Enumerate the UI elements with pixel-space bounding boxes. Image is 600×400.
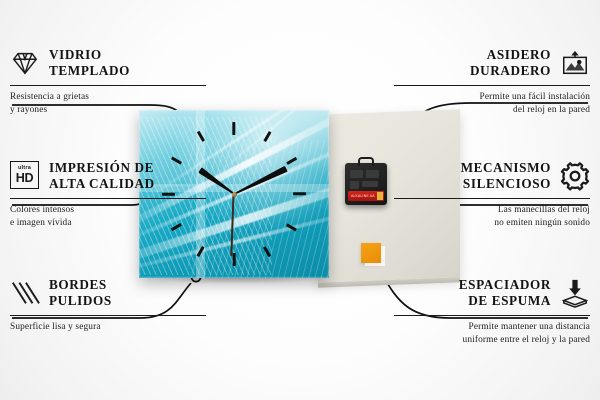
feature-title: MECANISMO SILENCIOSO: [461, 160, 551, 193]
battery-terminal: [377, 192, 383, 200]
mechanism-detail: [362, 181, 378, 187]
diamond-icon: [10, 48, 40, 78]
clock-tick: [232, 253, 235, 266]
arrow-down-layers-icon: [560, 278, 590, 308]
clock-tick: [197, 246, 205, 257]
foam-spacer-pad: [361, 243, 381, 263]
feature-heading: ESPACIADOR DE ESPUMA: [394, 277, 590, 310]
feature-vidrio-templado: VIDRIO TEMPLADO Resistencia a grietas y …: [10, 47, 206, 117]
feature-description: Permite una fácil instalación del reloj …: [394, 91, 590, 117]
feature-heading: MECANISMO SILENCIOSO: [394, 160, 590, 193]
feature-bordes-pulidos: BORDES PULIDOS Superficie lisa y segura: [10, 277, 206, 334]
feature-heading: BORDES PULIDOS: [10, 277, 206, 310]
feature-impresion-alta-calidad: ultra HD IMPRESIÓN DE ALTA CALIDAD Color…: [10, 160, 206, 230]
divider: [10, 315, 206, 316]
gear-icon: [560, 161, 590, 191]
feature-espaciador-de-espuma: ESPACIADOR DE ESPUMA Permite mantener un…: [394, 277, 590, 347]
feature-title: VIDRIO TEMPLADO: [49, 47, 130, 80]
battery-label: ALKALINE AA: [351, 194, 375, 198]
feature-title: ASIDERO DURADERO: [470, 47, 551, 80]
divider: [10, 85, 206, 86]
diagonal-lines-icon: [10, 278, 40, 308]
feature-description: Las manecillas del reloj no emiten ningú…: [394, 204, 590, 230]
feature-description: Resistencia a grietas y rayones: [10, 91, 206, 117]
feature-title: BORDES PULIDOS: [49, 277, 112, 310]
mechanism-detail: [350, 170, 363, 178]
feature-asidero-duradero: ASIDERO DURADERO Permite una fácil insta…: [394, 47, 590, 117]
clock-tick: [293, 192, 306, 195]
clock-tick: [286, 157, 297, 165]
clock-mechanism-box: ALKALINE AA: [345, 163, 387, 205]
divider: [10, 198, 206, 199]
feature-heading: ultra HD IMPRESIÓN DE ALTA CALIDAD: [10, 160, 206, 193]
feature-title: ESPACIADOR DE ESPUMA: [459, 277, 551, 310]
feature-mecanismo-silencioso: MECANISMO SILENCIOSO Las manecillas del …: [394, 160, 590, 230]
clock-tick: [232, 122, 235, 135]
divider: [394, 85, 590, 86]
clock-center-cap: [232, 192, 237, 197]
hanging-picture-frame-icon: [560, 48, 590, 78]
feature-description: Colores intensos e imagen vívida: [10, 204, 206, 230]
wall-hanger-loop: [358, 157, 374, 166]
mechanism-detail: [350, 181, 359, 189]
clock-tick: [197, 131, 205, 142]
ultra-hd-icon-main-text: HD: [16, 172, 34, 185]
clock-tick: [263, 246, 271, 257]
ultra-hd-icon: ultra HD: [10, 161, 40, 191]
divider: [394, 198, 590, 199]
feature-heading: VIDRIO TEMPLADO: [10, 47, 206, 80]
mechanism-detail: [366, 170, 379, 178]
clock-tick: [263, 131, 271, 142]
feature-description: Superficie lisa y segura: [10, 321, 206, 334]
infographic-canvas: ALKALINE AA: [0, 0, 600, 400]
feature-heading: ASIDERO DURADERO: [394, 47, 590, 80]
feature-title: IMPRESIÓN DE ALTA CALIDAD: [49, 160, 155, 193]
clock-tick: [286, 223, 297, 231]
divider: [394, 315, 590, 316]
battery: ALKALINE AA: [348, 191, 384, 201]
feature-description: Permite mantener una distancia uniforme …: [394, 321, 590, 347]
